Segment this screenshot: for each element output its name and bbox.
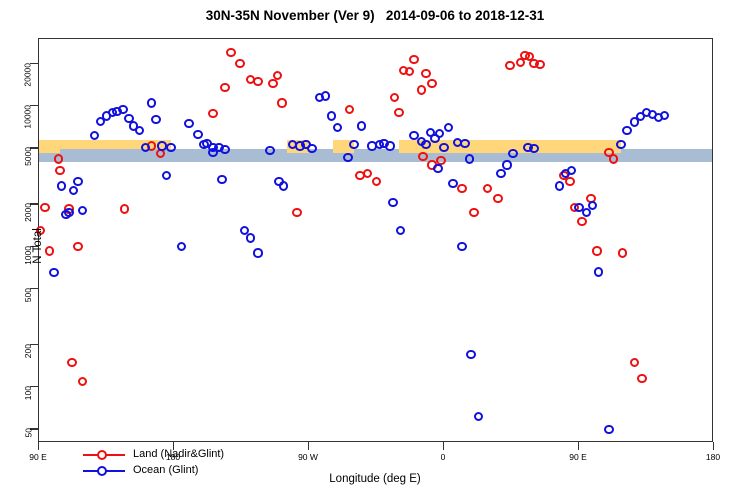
data-point-ocean xyxy=(508,149,517,158)
data-point-ocean xyxy=(162,171,171,180)
data-point-ocean xyxy=(73,177,82,186)
y-tick-label-wrap: 10000 xyxy=(0,99,28,111)
data-point-ocean xyxy=(421,140,430,149)
data-point-land xyxy=(363,169,372,178)
data-point-ocean xyxy=(135,126,144,135)
y-tick-label: 100 xyxy=(22,386,34,400)
data-point-ocean xyxy=(57,181,66,190)
data-point-land xyxy=(630,358,639,367)
data-point-ocean xyxy=(78,206,87,215)
data-point-ocean xyxy=(588,201,597,210)
data-point-land xyxy=(235,59,244,68)
data-point-ocean xyxy=(118,105,127,114)
x-tick-label: 90 E xyxy=(8,452,68,462)
data-point-ocean xyxy=(49,268,58,277)
data-point-ocean xyxy=(457,242,466,251)
y-tick-label: 200 xyxy=(22,344,34,358)
data-point-ocean xyxy=(253,248,262,257)
data-point-ocean xyxy=(157,141,166,150)
data-point-land xyxy=(469,208,478,217)
data-point-ocean xyxy=(265,146,274,155)
y-tick-label-wrap: 1000 xyxy=(0,240,28,252)
data-point-ocean xyxy=(465,154,474,163)
data-point-land xyxy=(273,71,282,80)
data-point-ocean xyxy=(622,126,631,135)
x-tick xyxy=(443,442,444,450)
data-point-ocean xyxy=(660,111,669,120)
y-tick-label: 20000 xyxy=(22,63,34,87)
data-point-ocean xyxy=(177,242,186,251)
data-point-land xyxy=(409,55,418,64)
data-point-ocean xyxy=(474,412,483,421)
data-point-land xyxy=(427,79,436,88)
data-point-ocean xyxy=(333,123,342,132)
data-point-land xyxy=(592,246,601,255)
data-point-ocean xyxy=(555,181,564,190)
plot-area: Land (Nadir&Glint) Ocean (Glint) xyxy=(38,38,713,442)
data-point-land xyxy=(45,246,54,255)
data-point-ocean xyxy=(466,350,475,359)
data-point-ocean xyxy=(448,179,457,188)
data-point-land xyxy=(394,108,403,117)
x-tick-label: 180 xyxy=(683,452,743,462)
data-point-ocean xyxy=(502,160,511,169)
data-point-ocean xyxy=(279,181,288,190)
data-point-land xyxy=(78,377,87,386)
data-point-ocean xyxy=(594,267,603,276)
data-point-ocean xyxy=(357,121,366,130)
x-tick-label: 180 xyxy=(143,452,203,462)
data-point-ocean xyxy=(343,153,352,162)
y-tick-label-wrap: 100 xyxy=(0,380,28,392)
x-tick xyxy=(578,442,579,450)
data-point-land xyxy=(405,67,414,76)
legend-marker-land xyxy=(81,447,127,463)
data-point-land xyxy=(565,177,574,186)
data-point-land xyxy=(418,152,427,161)
data-point-ocean xyxy=(151,115,160,124)
data-point-ocean xyxy=(90,131,99,140)
data-point-ocean xyxy=(141,143,150,152)
data-point-land xyxy=(55,166,64,175)
data-point-ocean xyxy=(385,141,394,150)
x-tick xyxy=(713,442,714,450)
data-point-ocean xyxy=(69,186,78,195)
data-point-ocean xyxy=(496,169,505,178)
data-point-ocean xyxy=(321,91,330,100)
y-tick-label-wrap: 500 xyxy=(0,282,28,294)
data-point-ocean xyxy=(327,111,336,120)
data-point-ocean xyxy=(616,140,625,149)
data-point-ocean xyxy=(208,148,217,157)
data-point-land xyxy=(483,184,492,193)
data-point-land xyxy=(292,208,301,217)
scatter-points-layer xyxy=(39,39,712,441)
y-axis-title: N Total xyxy=(32,186,44,306)
data-point-land xyxy=(226,48,235,57)
y-tick-label: 10000 xyxy=(22,105,34,129)
data-point-ocean xyxy=(147,98,156,107)
data-point-ocean xyxy=(444,123,453,132)
chart-title: 30N-35N November (Ver 9) 2014-09-06 to 2… xyxy=(0,8,750,23)
data-point-ocean xyxy=(220,145,229,154)
data-point-land xyxy=(577,217,586,226)
data-point-land xyxy=(493,194,502,203)
data-point-land xyxy=(637,374,646,383)
data-point-ocean xyxy=(307,144,316,153)
x-tick-label: 0 xyxy=(413,452,473,462)
x-tick xyxy=(173,442,174,450)
data-point-ocean xyxy=(604,425,613,434)
data-point-land xyxy=(372,177,381,186)
x-tick-label: 90 W xyxy=(278,452,338,462)
x-tick xyxy=(308,442,309,450)
data-point-land xyxy=(390,93,399,102)
data-point-ocean xyxy=(246,233,255,242)
y-tick-label-wrap: 2000 xyxy=(0,197,28,209)
data-point-ocean xyxy=(349,140,358,149)
y-tick-label-wrap: 5000 xyxy=(0,141,28,153)
data-point-land xyxy=(253,77,262,86)
data-point-ocean xyxy=(184,119,193,128)
data-point-ocean xyxy=(388,198,397,207)
data-point-land xyxy=(609,154,618,163)
data-point-land xyxy=(535,60,544,69)
data-point-land xyxy=(268,79,277,88)
data-point-ocean xyxy=(567,166,576,175)
data-point-land xyxy=(120,204,129,213)
data-point-land xyxy=(208,109,217,118)
y-tick-label-wrap: 20000 xyxy=(0,57,28,69)
data-point-land xyxy=(505,61,514,70)
y-tick-label: 5000 xyxy=(22,147,34,166)
data-point-ocean xyxy=(439,143,448,152)
data-point-land xyxy=(73,242,82,251)
data-point-land xyxy=(618,248,627,257)
data-point-land xyxy=(417,85,426,94)
data-point-land xyxy=(345,105,354,114)
data-point-land xyxy=(421,69,430,78)
data-point-land xyxy=(220,83,229,92)
y-tick-label: 50 xyxy=(22,428,34,437)
y-tick-label-wrap: 200 xyxy=(0,338,28,350)
data-point-ocean xyxy=(166,143,175,152)
data-point-ocean xyxy=(460,139,469,148)
x-tick xyxy=(38,442,39,450)
data-point-ocean xyxy=(435,129,444,138)
x-axis-title: Longitude (deg E) xyxy=(0,473,750,485)
data-point-land xyxy=(54,154,63,163)
y-tick-label-wrap: 50 xyxy=(0,422,28,434)
data-point-land xyxy=(67,358,76,367)
data-point-ocean xyxy=(433,164,442,173)
data-point-ocean xyxy=(217,175,226,184)
data-point-land xyxy=(457,184,466,193)
data-point-ocean xyxy=(529,144,538,153)
chart-root: 30N-35N November (Ver 9) 2014-09-06 to 2… xyxy=(0,0,750,500)
data-point-ocean xyxy=(193,130,202,139)
data-point-ocean xyxy=(396,226,405,235)
data-point-ocean xyxy=(64,208,73,217)
data-point-land xyxy=(277,98,286,107)
x-tick-label: 90 E xyxy=(548,452,608,462)
